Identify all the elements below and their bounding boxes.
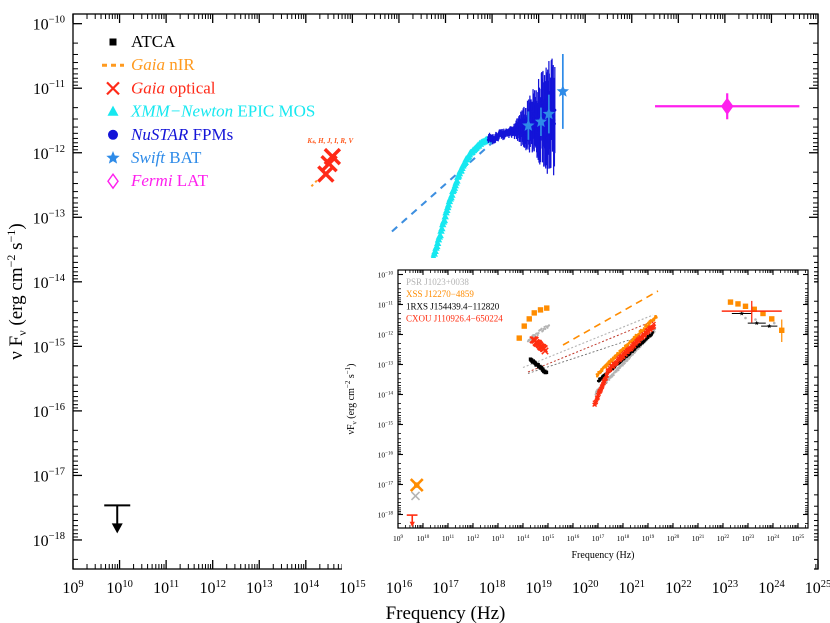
tick-label: 10−11: [33, 79, 65, 98]
tick-label: 10−13: [33, 208, 65, 227]
tick-label: 1023: [712, 579, 739, 597]
gaia-nir-points: [311, 179, 318, 187]
inset-legend-label-1rxs-j154439[interactable]: 1RXS J154439.4−112820: [406, 301, 500, 311]
legend: ATCAGaia nIRGaia opticalXMM−Newton EPIC …: [102, 32, 315, 190]
x-axis-label: Frequency (Hz): [386, 603, 506, 623]
tick-label: 10−14: [33, 273, 66, 292]
tick-label: 1017: [432, 579, 459, 597]
tick-label: 109: [62, 579, 83, 597]
legend-marker-star-icon: [106, 151, 119, 164]
inset-legend-label-cxou-j110926[interactable]: CXOU J110926.4−650224: [406, 314, 503, 324]
legend-label-gaia-optical: Gaia optical: [131, 78, 216, 97]
legend-label-atca: ATCA: [131, 32, 176, 51]
legend-marker-diamond-icon: [108, 174, 118, 188]
legend-marker-triangle-icon: [107, 106, 118, 116]
figure-canvas: 1091010101110121013101410151016101710181…: [0, 0, 830, 623]
gaia-optical-points: [318, 149, 340, 181]
tick-label: 10−17: [33, 466, 65, 485]
legend-label-xmm-newton-epic-mos: XMM−Newton EPIC MOS: [130, 102, 315, 121]
tick-label: 1010: [106, 579, 133, 597]
sed-plot: 1091010101110121013101410151016101710181…: [0, 0, 830, 623]
legend-marker-circle-icon: [108, 130, 118, 140]
tick-label: 10−16: [33, 402, 65, 421]
atca-upper-limit: [104, 505, 130, 533]
tick-label: 1019: [525, 579, 552, 597]
tick-label: 1018: [479, 579, 506, 597]
tick-label: 10−15: [33, 337, 65, 356]
legend-label-gaia-nir: Gaia nIR: [131, 55, 195, 74]
tick-label: 10−10: [33, 15, 65, 34]
inset-legend-label-psr-j1023[interactable]: PSR J1023+0038: [406, 277, 469, 287]
legend-item-fermi-lat[interactable]: Fermi LAT: [108, 171, 209, 190]
legend-item-nustar-fpms[interactable]: NuSTAR FPMs: [108, 125, 233, 144]
y-axis-label: ν Fν (erg cm−2 s−1): [4, 223, 29, 359]
photometric-band-label: Kₛ, H, J, I, R, V: [306, 137, 354, 145]
tick-label: 1022: [665, 579, 692, 597]
fermi-lat-point: [655, 93, 799, 119]
tick-label: 10−18: [33, 531, 65, 550]
legend-item-xmm-newton-epic-mos[interactable]: XMM−Newton EPIC MOS: [107, 102, 315, 121]
tick-label: 10−12: [33, 144, 65, 163]
legend-marker-square-icon: [110, 39, 117, 46]
tick-label: 1011: [153, 579, 179, 597]
tick-label: 1021: [619, 579, 646, 597]
tick-label: 1015: [339, 579, 366, 597]
tick-label: 1016: [386, 579, 413, 597]
tick-label: 1025: [805, 579, 830, 597]
legend-item-gaia-optical[interactable]: Gaia optical: [107, 78, 216, 97]
inset-legend-label-xss-j12270[interactable]: XSS J12270−4859: [406, 289, 474, 299]
legend-item-atca[interactable]: ATCA: [110, 32, 177, 51]
tick-label: 1024: [758, 579, 785, 597]
tick-label: 1014: [293, 579, 320, 597]
legend-label-swift-bat: Swift BAT: [131, 148, 202, 167]
legend-marker-cross-icon: [107, 82, 119, 94]
inset-plot: 1091010101110121013101410151016101710181…: [342, 258, 814, 570]
legend-item-swift-bat[interactable]: Swift BAT: [106, 148, 202, 167]
tick-label: 1020: [572, 579, 599, 597]
legend-label-fermi-lat: Fermi LAT: [130, 171, 209, 190]
tick-label: 1012: [199, 579, 226, 597]
inset-x-axis-label: Frequency (Hz): [571, 550, 634, 561]
legend-label-nustar-fpms: NuSTAR FPMs: [130, 125, 233, 144]
legend-item-gaia-nir[interactable]: Gaia nIR: [102, 55, 195, 74]
tick-label: 1013: [246, 579, 273, 597]
